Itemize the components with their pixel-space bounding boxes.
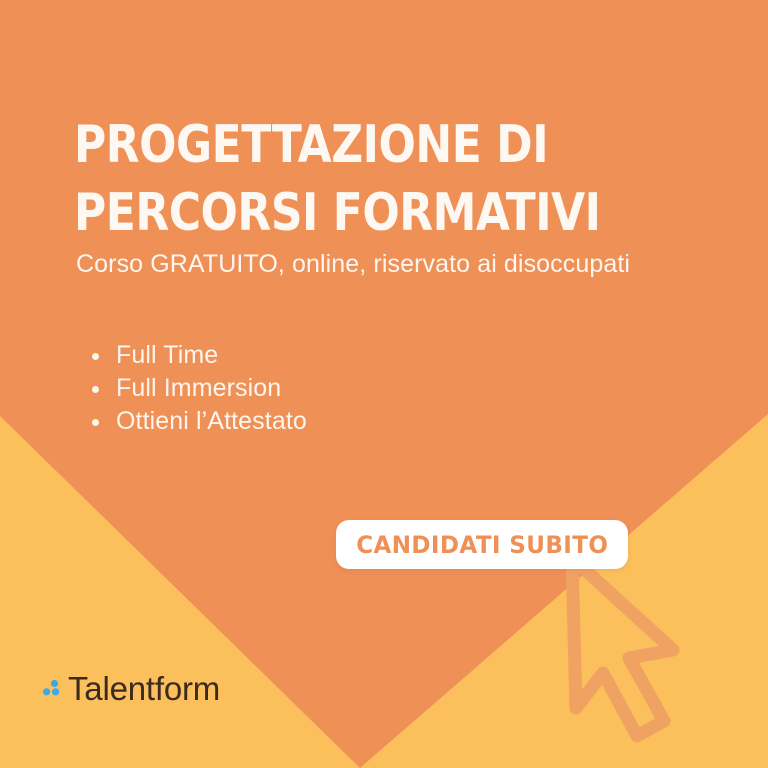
poster-content: PROGETTAZIONE DI PERCORSI FORMATIVI Cors…: [0, 0, 768, 768]
list-item-label: Ottieni l’Attestato: [116, 407, 307, 435]
list-item-label: Full Time: [116, 341, 218, 369]
brand-logo: Talentform: [41, 666, 220, 710]
apply-now-button-label: CANDIDATI SUBITO: [356, 531, 608, 559]
bullet-dot-icon: [92, 386, 99, 393]
bullet-dot-icon: [92, 419, 99, 426]
apply-now-button[interactable]: CANDIDATI SUBITO: [336, 520, 628, 569]
list-item-label: Full Immersion: [116, 374, 281, 402]
list-item: Full Immersion: [88, 372, 307, 405]
feature-list: Full Time Full Immersion Ottieni l’Attes…: [88, 339, 307, 438]
subtitle: Corso GRATUITO, online, riservato ai dis…: [76, 248, 630, 280]
page-title: PROGETTAZIONE DI PERCORSI FORMATIVI: [74, 111, 676, 247]
headline-line-1: PROGETTAZIONE DI: [74, 111, 676, 179]
three-blue-dots-icon: [41, 675, 67, 701]
headline-line-2: PERCORSI FORMATIVI: [74, 179, 676, 247]
brand-logo-text: Talentform: [68, 672, 220, 705]
list-item: Full Time: [88, 339, 307, 372]
promo-poster: PROGETTAZIONE DI PERCORSI FORMATIVI Cors…: [0, 0, 768, 768]
list-item: Ottieni l’Attestato: [88, 405, 307, 438]
bullet-dot-icon: [92, 353, 99, 360]
